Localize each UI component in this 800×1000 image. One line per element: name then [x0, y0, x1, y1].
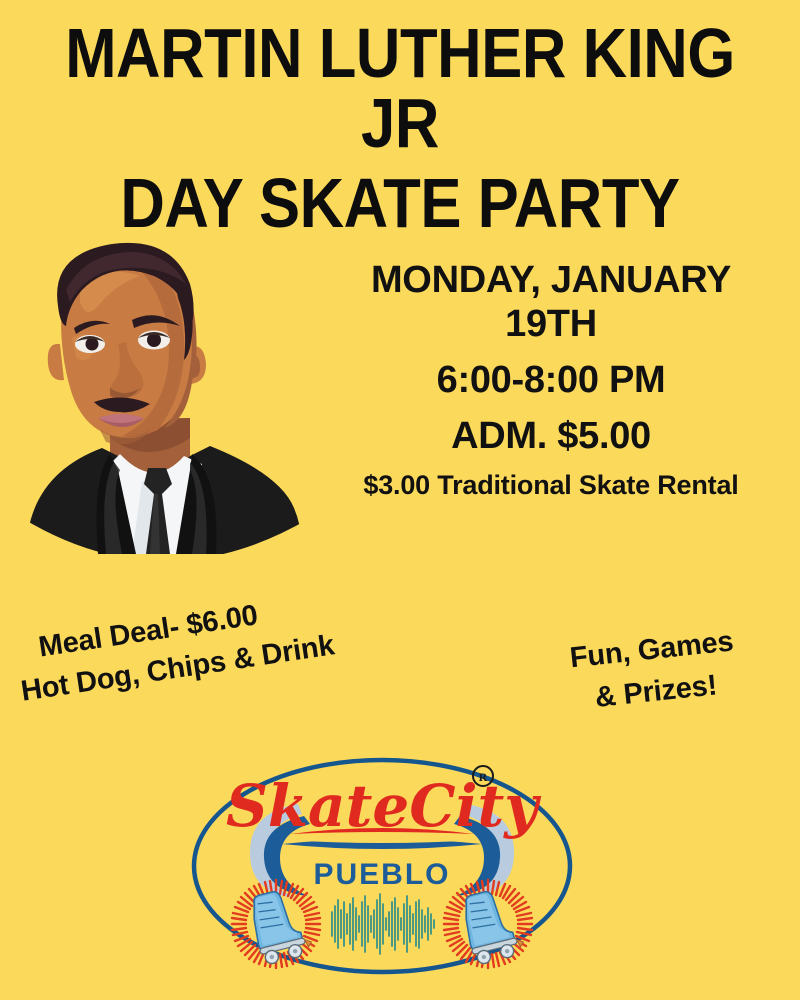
title-line-2: DAY SKATE PARTY — [48, 168, 752, 238]
mlk-portrait-illustration — [14, 232, 314, 554]
portrait-svg — [14, 232, 314, 554]
event-admission: ADM. $5.00 — [310, 414, 792, 458]
svg-text:R: R — [479, 770, 488, 784]
page-title: MARTIN LUTHER KING JR DAY SKATE PARTY — [0, 18, 800, 238]
logo-location-text: PUEBLO — [313, 858, 450, 891]
roller-skate-icon-left — [232, 880, 320, 968]
event-skate-rental: $3.00 Traditional Skate Rental — [310, 470, 792, 501]
title-line-1: MARTIN LUTHER KING JR — [48, 18, 752, 158]
event-date-day: 19TH — [310, 302, 792, 346]
meal-deal-callout: Meal Deal- $6.00 Hot Dog, Chips & Drink — [36, 573, 414, 709]
logo-svg: SkateCity R PUEBLO — [186, 752, 578, 980]
event-details: MONDAY, JANUARY 19TH 6:00-8:00 PM ADM. $… — [310, 258, 792, 502]
event-time: 6:00-8:00 PM — [310, 358, 792, 402]
event-date-line: MONDAY, JANUARY — [310, 258, 792, 302]
skate-city-logo: SkateCity R PUEBLO — [186, 752, 578, 980]
audio-waveform-icon — [332, 894, 434, 954]
flyer-canvas: MARTIN LUTHER KING JR DAY SKATE PARTY — [0, 0, 800, 1000]
fun-games-prizes-callout: Fun, Games & Prizes! — [545, 618, 763, 724]
roller-skate-icon-right — [444, 880, 532, 968]
